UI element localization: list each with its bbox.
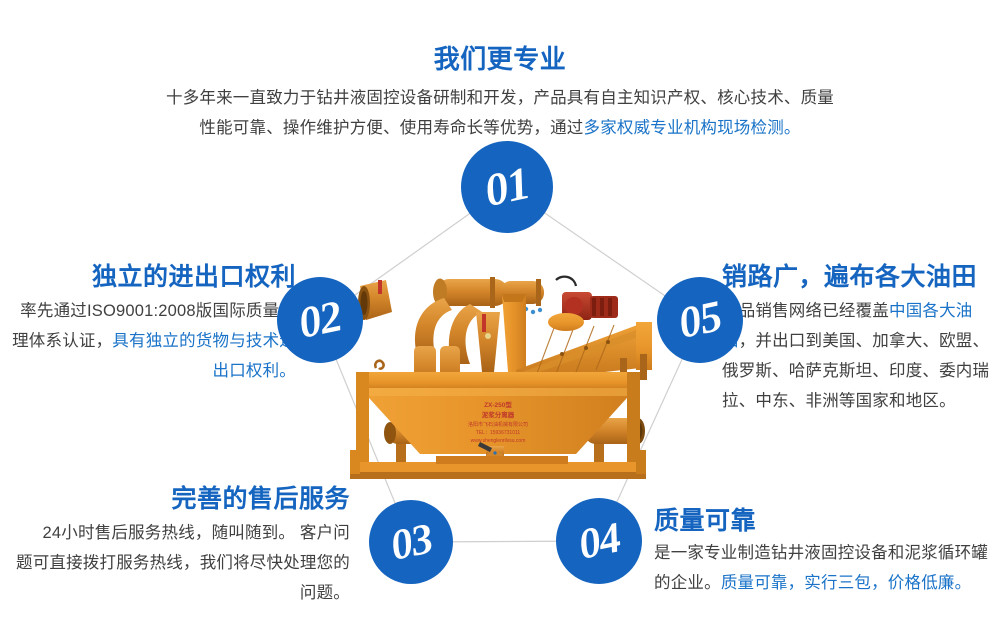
step-number-05: 05: [675, 294, 725, 346]
infographic-stage: ZX-250型 泥浆分离器 洛阳市飞石油机械有限公司 TEL：159367310…: [0, 0, 1000, 642]
step-number-03: 03: [386, 517, 435, 568]
feature-body-02-highlight: 具有独立的货物与技术进出口权利。: [112, 332, 296, 380]
feature-body-04: 是一家专业制造钻井液固控设备和泥浆循环罐的企业。质量可靠，实行三包，价格低廉。: [654, 538, 994, 598]
svg-text:TEL：15936731011: TEL：15936731011: [476, 430, 521, 436]
mud-separator-illustration: ZX-250型 泥浆分离器 洛阳市飞石油机械有限公司 TEL：159367310…: [340, 250, 660, 490]
feature-heading-03: 完善的售后服务: [10, 484, 350, 514]
feature-block-02: 独立的进出口权利 率先通过ISO9001:2008版国际质量管理体系认证，具有独…: [8, 262, 296, 386]
feature-body-05: 产品销售网络已经覆盖中国各大油田，并出口到美国、加拿大、欧盟、俄罗斯、哈萨克斯坦…: [722, 296, 994, 416]
feature-body-01: 十多年来一直致力于钻井液固控设备研制和开发，产品具有自主知识产权、核心技术、质量…: [160, 83, 840, 143]
feature-block-04: 质量可靠 是一家专业制造钻井液固控设备和泥浆循环罐的企业。质量可靠，实行三包，价…: [654, 506, 994, 598]
step-circle-04[interactable]: 04: [556, 498, 642, 584]
step-circle-01[interactable]: 01: [461, 141, 553, 233]
step-circle-02[interactable]: 02: [277, 277, 363, 363]
feature-heading-02: 独立的进出口权利: [8, 262, 296, 292]
feature-body-04-highlight: 质量可靠，实行三包，价格低廉。: [721, 574, 972, 592]
svg-text:洛阳市飞石油机械有限公司: 洛阳市飞石油机械有限公司: [468, 421, 528, 428]
step-circle-05[interactable]: 05: [657, 277, 743, 363]
feature-block-05: 销路广，遍布各大油田 产品销售网络已经覆盖中国各大油田，并出口到美国、加拿大、欧…: [722, 262, 994, 416]
feature-body-03-text: 24小时售后服务热线，随叫随到。 客户问题可直接拨打服务热线，我们将尽快处理您的…: [16, 524, 350, 602]
feature-body-01-highlight: 多家权威专业机构现场检测。: [584, 119, 801, 137]
feature-heading-01: 我们更专业: [160, 44, 840, 75]
feature-body-05-post: ，并出口到美国、加拿大、欧盟、俄罗斯、哈萨克斯坦、印度、委内瑞拉、中东、非洲等国…: [722, 332, 989, 410]
step-number-01: 01: [481, 160, 534, 214]
step-number-04: 04: [574, 516, 623, 567]
feature-heading-04: 质量可靠: [654, 506, 994, 536]
vibration-motor: [548, 277, 618, 331]
svg-text:www.shenglenrilvsu.com: www.shenglenrilvsu.com: [471, 438, 526, 444]
svg-text:ZX-250型: ZX-250型: [484, 400, 512, 409]
step-number-02: 02: [295, 294, 345, 346]
product-photo: ZX-250型 泥浆分离器 洛阳市飞石油机械有限公司 TEL：159367310…: [340, 250, 660, 490]
feature-block-03: 完善的售后服务 24小时售后服务热线，随叫随到。 客户问题可直接拨打服务热线，我…: [10, 484, 350, 608]
svg-text:泥浆分离器: 泥浆分离器: [482, 410, 515, 419]
feature-body-02: 率先通过ISO9001:2008版国际质量管理体系认证，具有独立的货物与技术进出…: [8, 296, 296, 386]
feature-block-01: 我们更专业 十多年来一直致力于钻井液固控设备研制和开发，产品具有自主知识产权、核…: [160, 44, 840, 143]
step-circle-03[interactable]: 03: [369, 500, 453, 584]
feature-heading-05: 销路广，遍布各大油田: [722, 262, 994, 292]
feature-body-03: 24小时售后服务热线，随叫随到。 客户问题可直接拨打服务热线，我们将尽快处理您的…: [10, 518, 350, 608]
feature-body-05-text: 产品销售网络已经覆盖: [722, 302, 889, 320]
